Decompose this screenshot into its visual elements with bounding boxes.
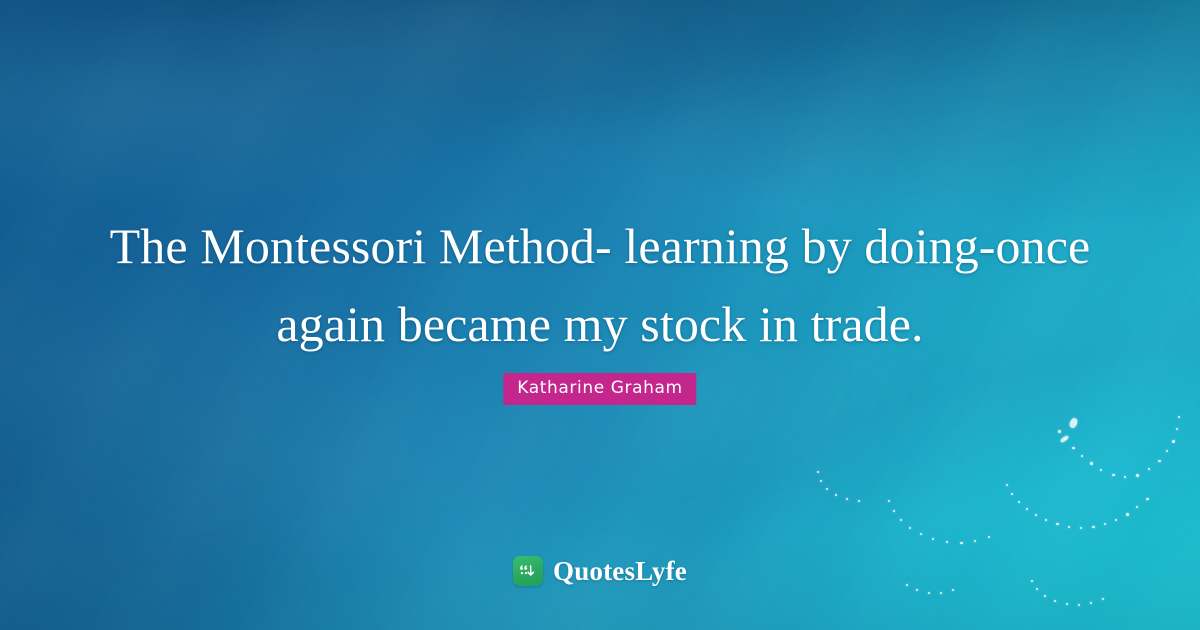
quote-card: The Montessori Method- learning by doing…: [0, 0, 1200, 630]
author-name-badge: Katharine Graham: [503, 373, 696, 405]
quote-line-2: again became my stock in trade.: [52, 285, 1148, 363]
quoteslyfe-wordmark: QuotesLyfe: [553, 558, 687, 585]
quote-mark-logo-icon: [513, 556, 543, 586]
quote-text: The Montessori Method- learning by doing…: [52, 207, 1148, 363]
card-content: The Montessori Method- learning by doing…: [0, 0, 1200, 630]
quoteslyfe-logo[interactable]: QuotesLyfe: [513, 556, 687, 586]
quote-line-1: The Montessori Method- learning by doing…: [52, 207, 1148, 285]
